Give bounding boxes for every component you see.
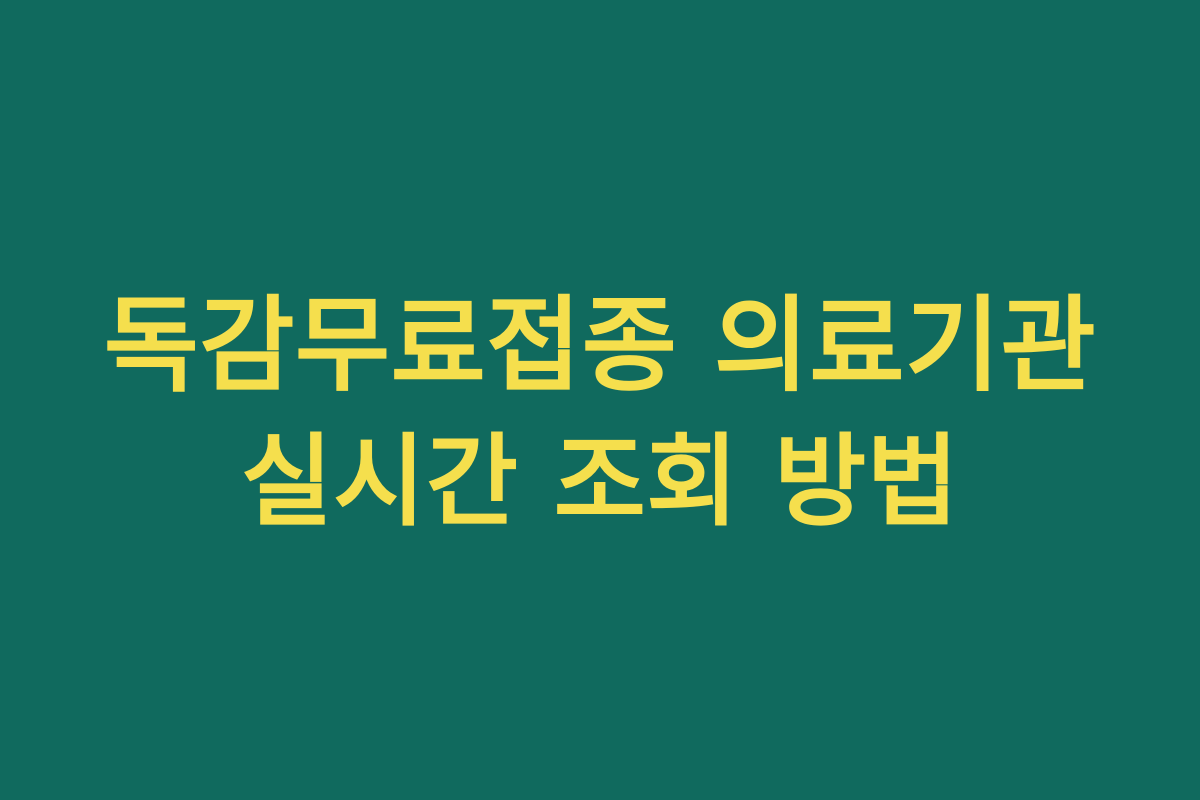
headline-line-2: 실시간 조회 방법 — [241, 414, 959, 549]
headline-line-1: 독감무료접종 의료기관 — [104, 279, 1096, 414]
headline-block: 독감무료접종 의료기관 실시간 조회 방법 — [64, 279, 1136, 549]
title-card: 독감무료접종 의료기관 실시간 조회 방법 — [0, 0, 1200, 800]
